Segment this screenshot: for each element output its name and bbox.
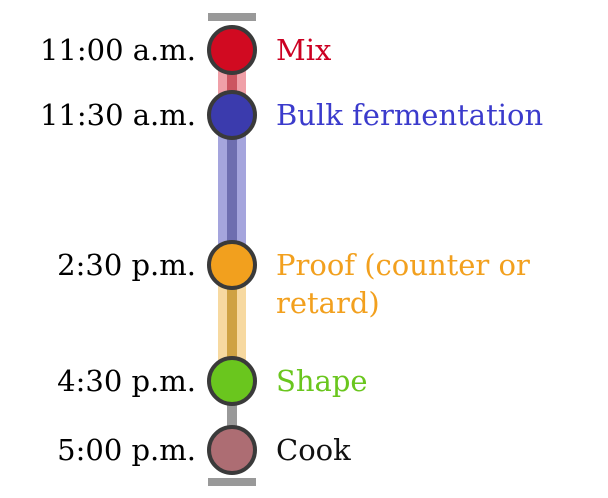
time-label-shape: 4:30 p.m. — [0, 364, 196, 398]
timeline-start-cap — [208, 13, 256, 21]
event-label-proof: Proof (counter or retard) — [276, 246, 608, 322]
timeline-node-cook[interactable] — [207, 425, 257, 475]
timeline-figure: 11:00 a.m. Mix 11:30 a.m. Bulk fermentat… — [0, 0, 608, 498]
time-label-bulk-fermentation: 11:30 a.m. — [0, 98, 196, 132]
timeline-node-bulk-fermentation[interactable] — [207, 90, 257, 140]
timeline-node-proof[interactable] — [207, 240, 257, 290]
event-label-bulk-fermentation: Bulk fermentation — [276, 96, 608, 134]
timeline-node-shape[interactable] — [207, 356, 257, 406]
time-label-proof: 2:30 p.m. — [0, 248, 196, 282]
timeline-end-cap — [208, 478, 256, 486]
event-label-cook: Cook — [276, 431, 608, 469]
event-label-shape: Shape — [276, 362, 608, 400]
time-label-cook: 5:00 p.m. — [0, 433, 196, 467]
event-label-mix: Mix — [276, 31, 608, 69]
time-label-mix: 11:00 a.m. — [0, 33, 196, 67]
timeline-node-mix[interactable] — [207, 25, 257, 75]
